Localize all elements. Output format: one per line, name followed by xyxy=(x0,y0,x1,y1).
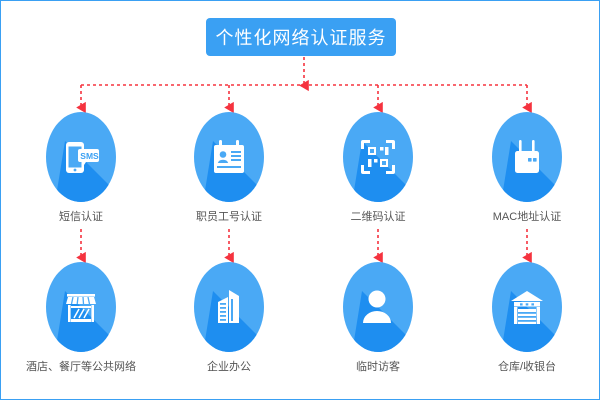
node-sms-auth[interactable]: SMS 短信认证 xyxy=(7,111,155,224)
node-label: 短信认证 xyxy=(7,210,155,224)
node-employee-id-auth[interactable]: 职员工号认证 xyxy=(155,111,303,224)
oval-warehouse-cashier xyxy=(491,261,563,353)
oval-mac-address-auth xyxy=(491,111,563,203)
node-label: 企业办公 xyxy=(155,360,303,374)
office-buildings-icon xyxy=(193,261,265,353)
node-label: MAC地址认证 xyxy=(453,210,600,224)
node-label: 酒店、餐厅等公共网络 xyxy=(7,360,155,374)
oval-temporary-visitor xyxy=(342,261,414,353)
node-label: 职员工号认证 xyxy=(155,210,303,224)
oval-sms-auth: SMS xyxy=(45,111,117,203)
node-qr-code-auth[interactable]: 二维码认证 xyxy=(304,111,452,224)
diagram-title-box: 个性化网络认证服务 xyxy=(206,18,396,56)
node-temporary-visitor[interactable]: 临时访客 xyxy=(304,261,452,374)
sms-phone-icon: SMS xyxy=(45,111,117,203)
storefront-icon xyxy=(45,261,117,353)
node-label: 二维码认证 xyxy=(304,210,452,224)
qr-code-scan-icon xyxy=(342,111,414,203)
oval-employee-id-auth xyxy=(193,111,265,203)
router-icon xyxy=(491,111,563,203)
node-warehouse-cashier[interactable]: 仓库/收银台 xyxy=(453,261,600,374)
svg-text:SMS: SMS xyxy=(80,151,99,161)
user-person-icon xyxy=(342,261,414,353)
warehouse-icon xyxy=(491,261,563,353)
diagram-title-text: 个性化网络认证服务 xyxy=(216,24,387,50)
node-label: 仓库/收银台 xyxy=(453,360,600,374)
diagram-canvas: 个性化网络认证服务 SMS 短信认证 xyxy=(0,0,600,400)
node-enterprise-office[interactable]: 企业办公 xyxy=(155,261,303,374)
node-mac-address-auth[interactable]: MAC地址认证 xyxy=(453,111,600,224)
oval-enterprise-office xyxy=(193,261,265,353)
oval-public-network xyxy=(45,261,117,353)
id-badge-icon xyxy=(193,111,265,203)
node-label: 临时访客 xyxy=(304,360,452,374)
oval-qr-code-auth xyxy=(342,111,414,203)
node-public-network[interactable]: 酒店、餐厅等公共网络 xyxy=(7,261,155,374)
